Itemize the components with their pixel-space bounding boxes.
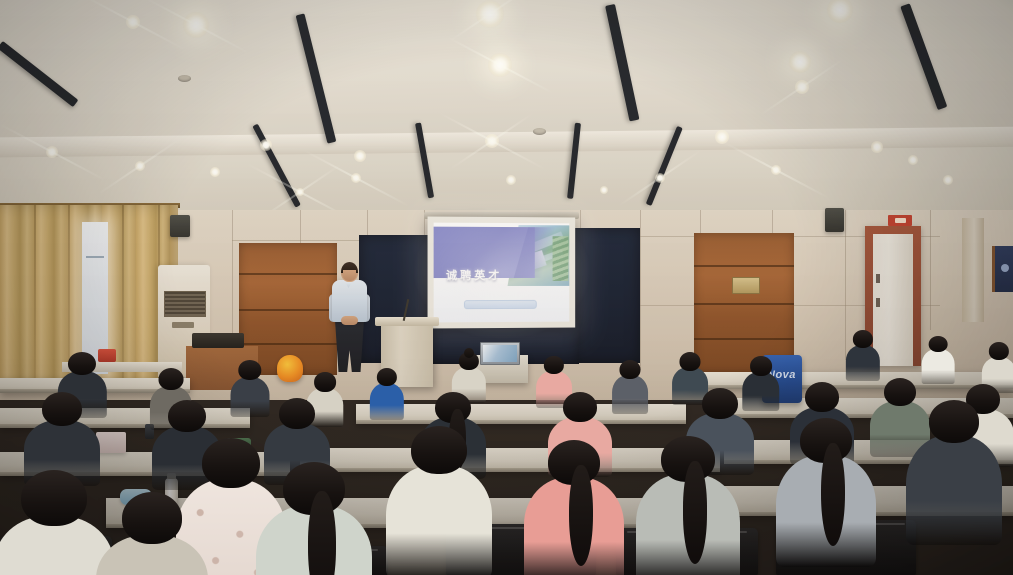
wall-speaker-icon: [825, 208, 844, 232]
audience-head: [989, 342, 1009, 360]
ceiling-downlight: [135, 161, 145, 171]
stage-backdrop-right: [574, 228, 640, 363]
ceiling-downlight: [126, 15, 140, 29]
audience-head: [563, 392, 597, 422]
ceiling-downlight: [296, 188, 304, 196]
wood-seam: [694, 265, 794, 267]
audience-head: [159, 368, 184, 390]
audience-head: [238, 360, 261, 380]
audience-torso: [906, 435, 1002, 545]
ceiling-downlight: [506, 175, 516, 185]
ceiling-downlight: [771, 165, 781, 175]
presenter-face: [343, 270, 356, 281]
lectern-top: [375, 317, 439, 326]
audience-torso: [370, 383, 404, 420]
ceiling-downlight: [485, 134, 499, 148]
audience-head: [929, 336, 948, 352]
audience-member: [256, 462, 372, 575]
audience-member: [846, 330, 880, 384]
slide-subtitle-bar: [464, 300, 537, 309]
audience-ponytail: [821, 443, 845, 547]
ceiling-downlight: [354, 150, 366, 162]
audience-head: [544, 356, 564, 374]
audience-member: [96, 492, 208, 575]
audience-head: [411, 426, 467, 474]
wood-seam: [239, 309, 337, 311]
audience-torso: [386, 465, 492, 575]
door-hinge: [876, 274, 880, 283]
wall-seam: [640, 210, 641, 370]
ceiling-downlight: [943, 175, 953, 185]
audience-head: [202, 438, 260, 488]
ceiling-downlight: [210, 167, 220, 177]
audience-member: [524, 440, 624, 575]
ceiling-downlight: [351, 173, 361, 183]
window-mullion: [86, 256, 104, 258]
audience-torso: [846, 345, 880, 381]
audience-member: [776, 418, 876, 575]
tissue-box: [96, 432, 126, 453]
audience-head: [68, 352, 96, 375]
curtain-fold: [34, 205, 36, 390]
audience-head: [168, 400, 206, 432]
wall-notice-board: [992, 246, 1013, 292]
wood-seam: [239, 273, 337, 275]
audience-head: [314, 372, 336, 392]
door-hinge: [876, 298, 880, 307]
audience-ponytail: [569, 465, 593, 566]
laptop-screen: [483, 345, 517, 362]
ceiling-downlight: [488, 53, 512, 77]
audience-head: [929, 400, 979, 443]
wood-seam: [694, 338, 794, 340]
wood-seam: [694, 303, 794, 305]
ceiling-downlight: [789, 51, 811, 73]
ceiling-downlight: [655, 173, 665, 183]
audience-head: [21, 470, 87, 526]
audience-head: [702, 388, 738, 419]
ceiling-downlight: [46, 146, 58, 158]
audience-head: [377, 368, 397, 386]
audience-member: [370, 368, 404, 423]
presenter-hands: [341, 316, 358, 325]
smoke-detector-icon: [178, 75, 191, 82]
smoke-detector-icon: [533, 128, 546, 135]
audience-member: [612, 360, 648, 418]
wall-pillar: [962, 218, 984, 322]
ceiling-downlight: [476, 0, 504, 28]
audience-head: [750, 356, 772, 376]
ceiling-downlight: [600, 186, 608, 194]
audience-head: [619, 360, 640, 379]
audience-head: [122, 492, 182, 544]
audience-head: [42, 392, 82, 426]
audience-head: [805, 382, 839, 412]
audience-torso: [612, 375, 648, 414]
audience-head: [679, 352, 700, 371]
presentation-slide: 诚聘英才: [434, 223, 570, 323]
ceiling: [0, 0, 1013, 232]
av-equipment: [192, 333, 244, 348]
wall-speaker-icon-left: [170, 215, 190, 237]
ceiling-downlight: [183, 12, 209, 38]
notice-emblem-icon: [1001, 264, 1009, 272]
audience-head: [279, 398, 315, 429]
audience-member: [386, 426, 492, 575]
wall-plaque: [732, 277, 760, 294]
exit-sign-icon: [888, 215, 912, 226]
wood-seam: [239, 343, 337, 345]
audience-member: [906, 400, 1002, 553]
ac-badge: [172, 322, 194, 328]
photo-trees: [552, 236, 568, 281]
ceiling-downlight: [908, 155, 918, 165]
vent-grille-icon: [164, 291, 206, 317]
slide-headline: 诚聘英才: [446, 267, 502, 283]
ceiling-downlight: [795, 80, 809, 94]
ceiling-downlight: [871, 141, 883, 153]
wall-seam: [930, 210, 931, 330]
ceiling-downlight: [260, 139, 272, 151]
wood-wall-panel-right: [694, 233, 794, 375]
audience-head: [853, 330, 873, 348]
audience-member: [636, 436, 740, 575]
projection-screen: 诚聘英才: [428, 217, 576, 329]
orange-bag: [277, 355, 303, 382]
lecture-hall-photo: 诚聘英才 Nova: [0, 0, 1013, 575]
